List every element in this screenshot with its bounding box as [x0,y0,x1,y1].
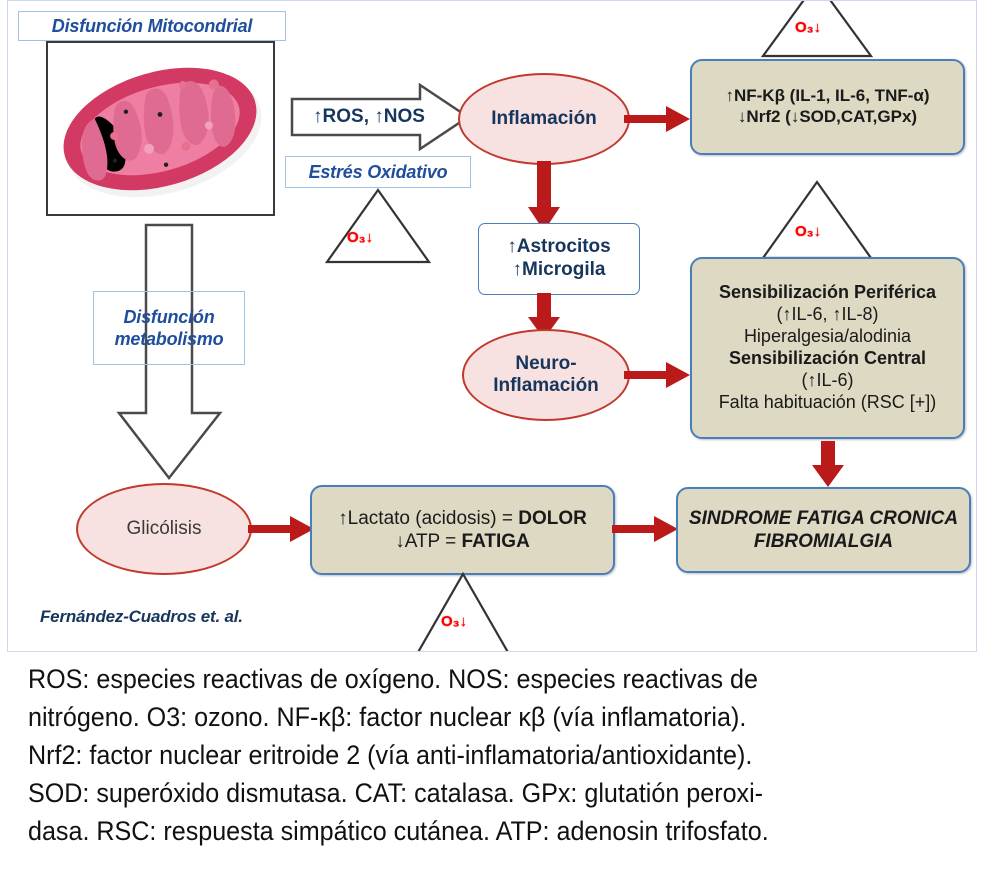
metabolism-label-line1: Disfunción [124,306,215,329]
nfkb-nrf2-box: ↑NF-Kβ (IL-1, IL-6, TNF-α) ↓Nrf2 (↓SOD,C… [690,59,965,155]
lactato-fatiga: FATIGA [462,531,530,552]
lactato-atp-box: ↑Lactato (acidosis) = DOLOR ↓ATP = FATIG… [310,485,615,575]
inflamacion-node: Inflamación [458,73,630,165]
figure-caption: ROS: especies reactivas de oxígeno. NOS:… [28,660,912,850]
ros-nos-label: ↑ROS, ↑NOS [294,101,444,133]
mitochondrial-dysfunction-label: Disfunción Mitocondrial [18,11,286,41]
metabolism-dysfunction-label: Disfunción metabolismo [93,291,245,365]
nfkb-line1: ↑NF-Kβ (IL-1, IL-6, TNF-α) [725,86,929,107]
o3-marker-lactato: O₃↓ [441,613,467,630]
sens-line1: Sensibilización Periférica [719,282,936,304]
lactato-line2-prefix: ↓ATP = [395,531,461,552]
arrow-sensibilizacion-to-sindrome [810,441,846,489]
sens-line2: (↑IL-6, ↑IL-8) [776,304,878,326]
oxidative-stress-label: Estrés Oxidativo [285,156,471,188]
lactato-line1: ↑Lactato (acidosis) = DOLOR [338,507,587,530]
lactato-dolor: DOLOR [518,508,587,529]
ozone-triangle-sensibilizacion [760,179,874,261]
lactato-line1-prefix: ↑Lactato (acidosis) = [338,508,518,529]
sindrome-line2: FIBROMIALGIA [754,530,893,553]
neuroinflamacion-node: Neuro- Inflamación [462,329,630,421]
ozone-triangle-oxidative-stress [324,187,432,265]
lactato-line2: ↓ATP = FATIGA [395,530,530,553]
nfkb-line2: ↓Nrf2 (↓SOD,CAT,GPx) [738,107,917,128]
metabolism-label-line2: metabolismo [115,328,224,351]
sens-line6: Falta habituación (RSC [+]) [719,392,937,414]
arrow-glicolisis-to-lactato [248,511,316,547]
caption-line-3: Nrf2: factor nuclear eritroide 2 (vía an… [28,736,912,774]
sens-line4: Sensibilización Central [729,348,926,370]
sens-line3: Hiperalgesia/alodinia [744,326,911,348]
astrocitos-line2: ↑Microgila [513,259,606,282]
arrow-lactato-to-sindrome [612,511,680,547]
neuro-line1: Neuro- [515,353,576,375]
o3-marker-nfkb: O₃↓ [795,19,821,36]
diagram-frame: Disfunción Mitocondrial [7,0,977,652]
o3-marker-oxidative-stress: O₃↓ [347,229,373,246]
caption-line-2: nitrógeno. O3: ozono. NF-κβ: factor nucl… [28,698,912,736]
neuro-line2: Inflamación [493,375,599,397]
sensibilizacion-box: Sensibilización Periférica (↑IL-6, ↑IL-8… [690,257,965,439]
mitochondrion-icon [48,43,273,214]
arrow-neuroinflamacion-to-sensibilizacion [624,357,692,393]
author-signature: Fernández-Cuadros et. al. [40,607,243,627]
caption-line-5: dasa. RSC: respuesta simpático cutánea. … [28,812,912,850]
astrocitos-line1: ↑Astrocitos [507,236,610,259]
ozone-triangle-lactato [406,571,520,652]
caption-line-4: SOD: superóxido dismutasa. CAT: catalasa… [28,774,912,812]
figure-page: Disfunción Mitocondrial [0,0,996,890]
astrocitos-microglia-box: ↑Astrocitos ↑Microgila [478,223,640,295]
sindrome-line1: SINDROME FATIGA CRONICA [689,507,958,530]
glicolisis-node: Glicólisis [76,483,252,575]
arrow-inflamacion-to-nfkb [624,101,692,137]
caption-line-1: ROS: especies reactivas de oxígeno. NOS:… [28,660,912,698]
sindrome-fatiga-cronica-box: SINDROME FATIGA CRONICA FIBROMIALGIA [676,487,971,573]
sens-line5: (↑IL-6) [801,370,853,392]
o3-marker-sensibilizacion: O₃↓ [795,223,821,240]
mitochondrion-image-box [46,41,275,216]
